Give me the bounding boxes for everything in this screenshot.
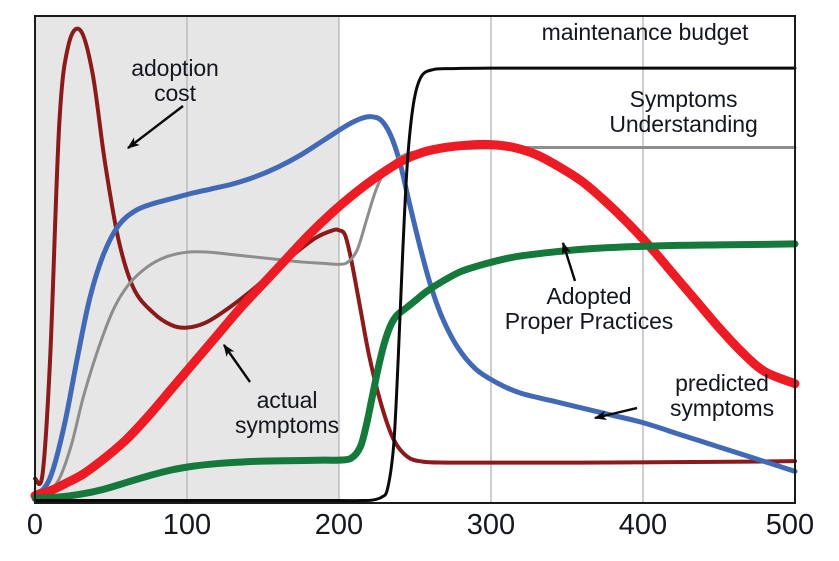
annotation-actual-symptoms: actual symptoms [211, 388, 363, 438]
annotation-adoption-cost: adoption cost [107, 56, 243, 106]
xtick-label-200: 200 [315, 509, 363, 542]
chart-container: adoption cost actual symptoms maintenanc… [0, 0, 839, 561]
annotation-adopted-proper-practices: Adopted Proper Practices [489, 284, 689, 334]
annotation-symptoms-understanding: Symptoms Understanding [576, 87, 791, 137]
xtick-label-400: 400 [619, 509, 667, 542]
xtick-label-500: 500 [766, 509, 814, 542]
xtick-label-300: 300 [467, 509, 515, 542]
xtick-label-100: 100 [163, 509, 211, 542]
annotation-maintenance-budget: maintenance budget [500, 20, 790, 45]
xtick-label-0: 0 [27, 509, 43, 542]
annotation-predicted-symptoms: predicted symptoms [642, 371, 802, 421]
